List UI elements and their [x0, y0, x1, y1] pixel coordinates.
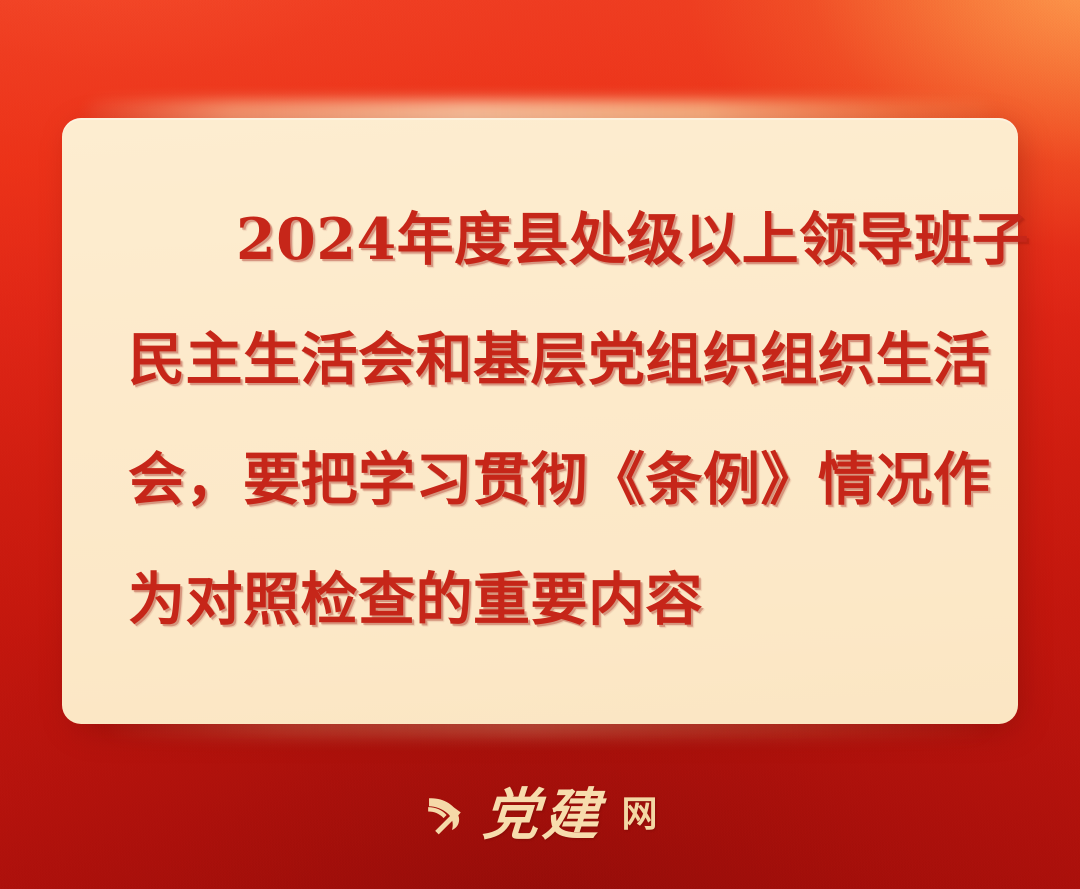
- headline-block: 2024年度县处级以上领导班子 民主生活会和基层党组织组织生活 会，要把学习贯彻…: [128, 180, 956, 660]
- hammer-sickle-emblem-icon: [421, 793, 467, 837]
- watermark-script-text: 党建: [482, 787, 606, 843]
- headline-line-1: 2024年度县处级以上领导班子: [128, 180, 956, 300]
- headline-line-2: 民主生活会和基层党组织组织生活: [128, 300, 956, 420]
- poster-root: 2024年度县处级以上领导班子 民主生活会和基层党组织组织生活 会，要把学习贯彻…: [0, 0, 1080, 889]
- headline-line-4: 为对照检查的重要内容: [128, 540, 956, 660]
- watermark-logo: 党建 网: [0, 770, 1080, 860]
- watermark-suffix-text: 网: [621, 797, 658, 833]
- content-card: 2024年度县处级以上领导班子 民主生活会和基层党组织组织生活 会，要把学习贯彻…: [62, 118, 1018, 724]
- headline-line-3: 会，要把学习贯彻《条例》情况作: [128, 420, 956, 540]
